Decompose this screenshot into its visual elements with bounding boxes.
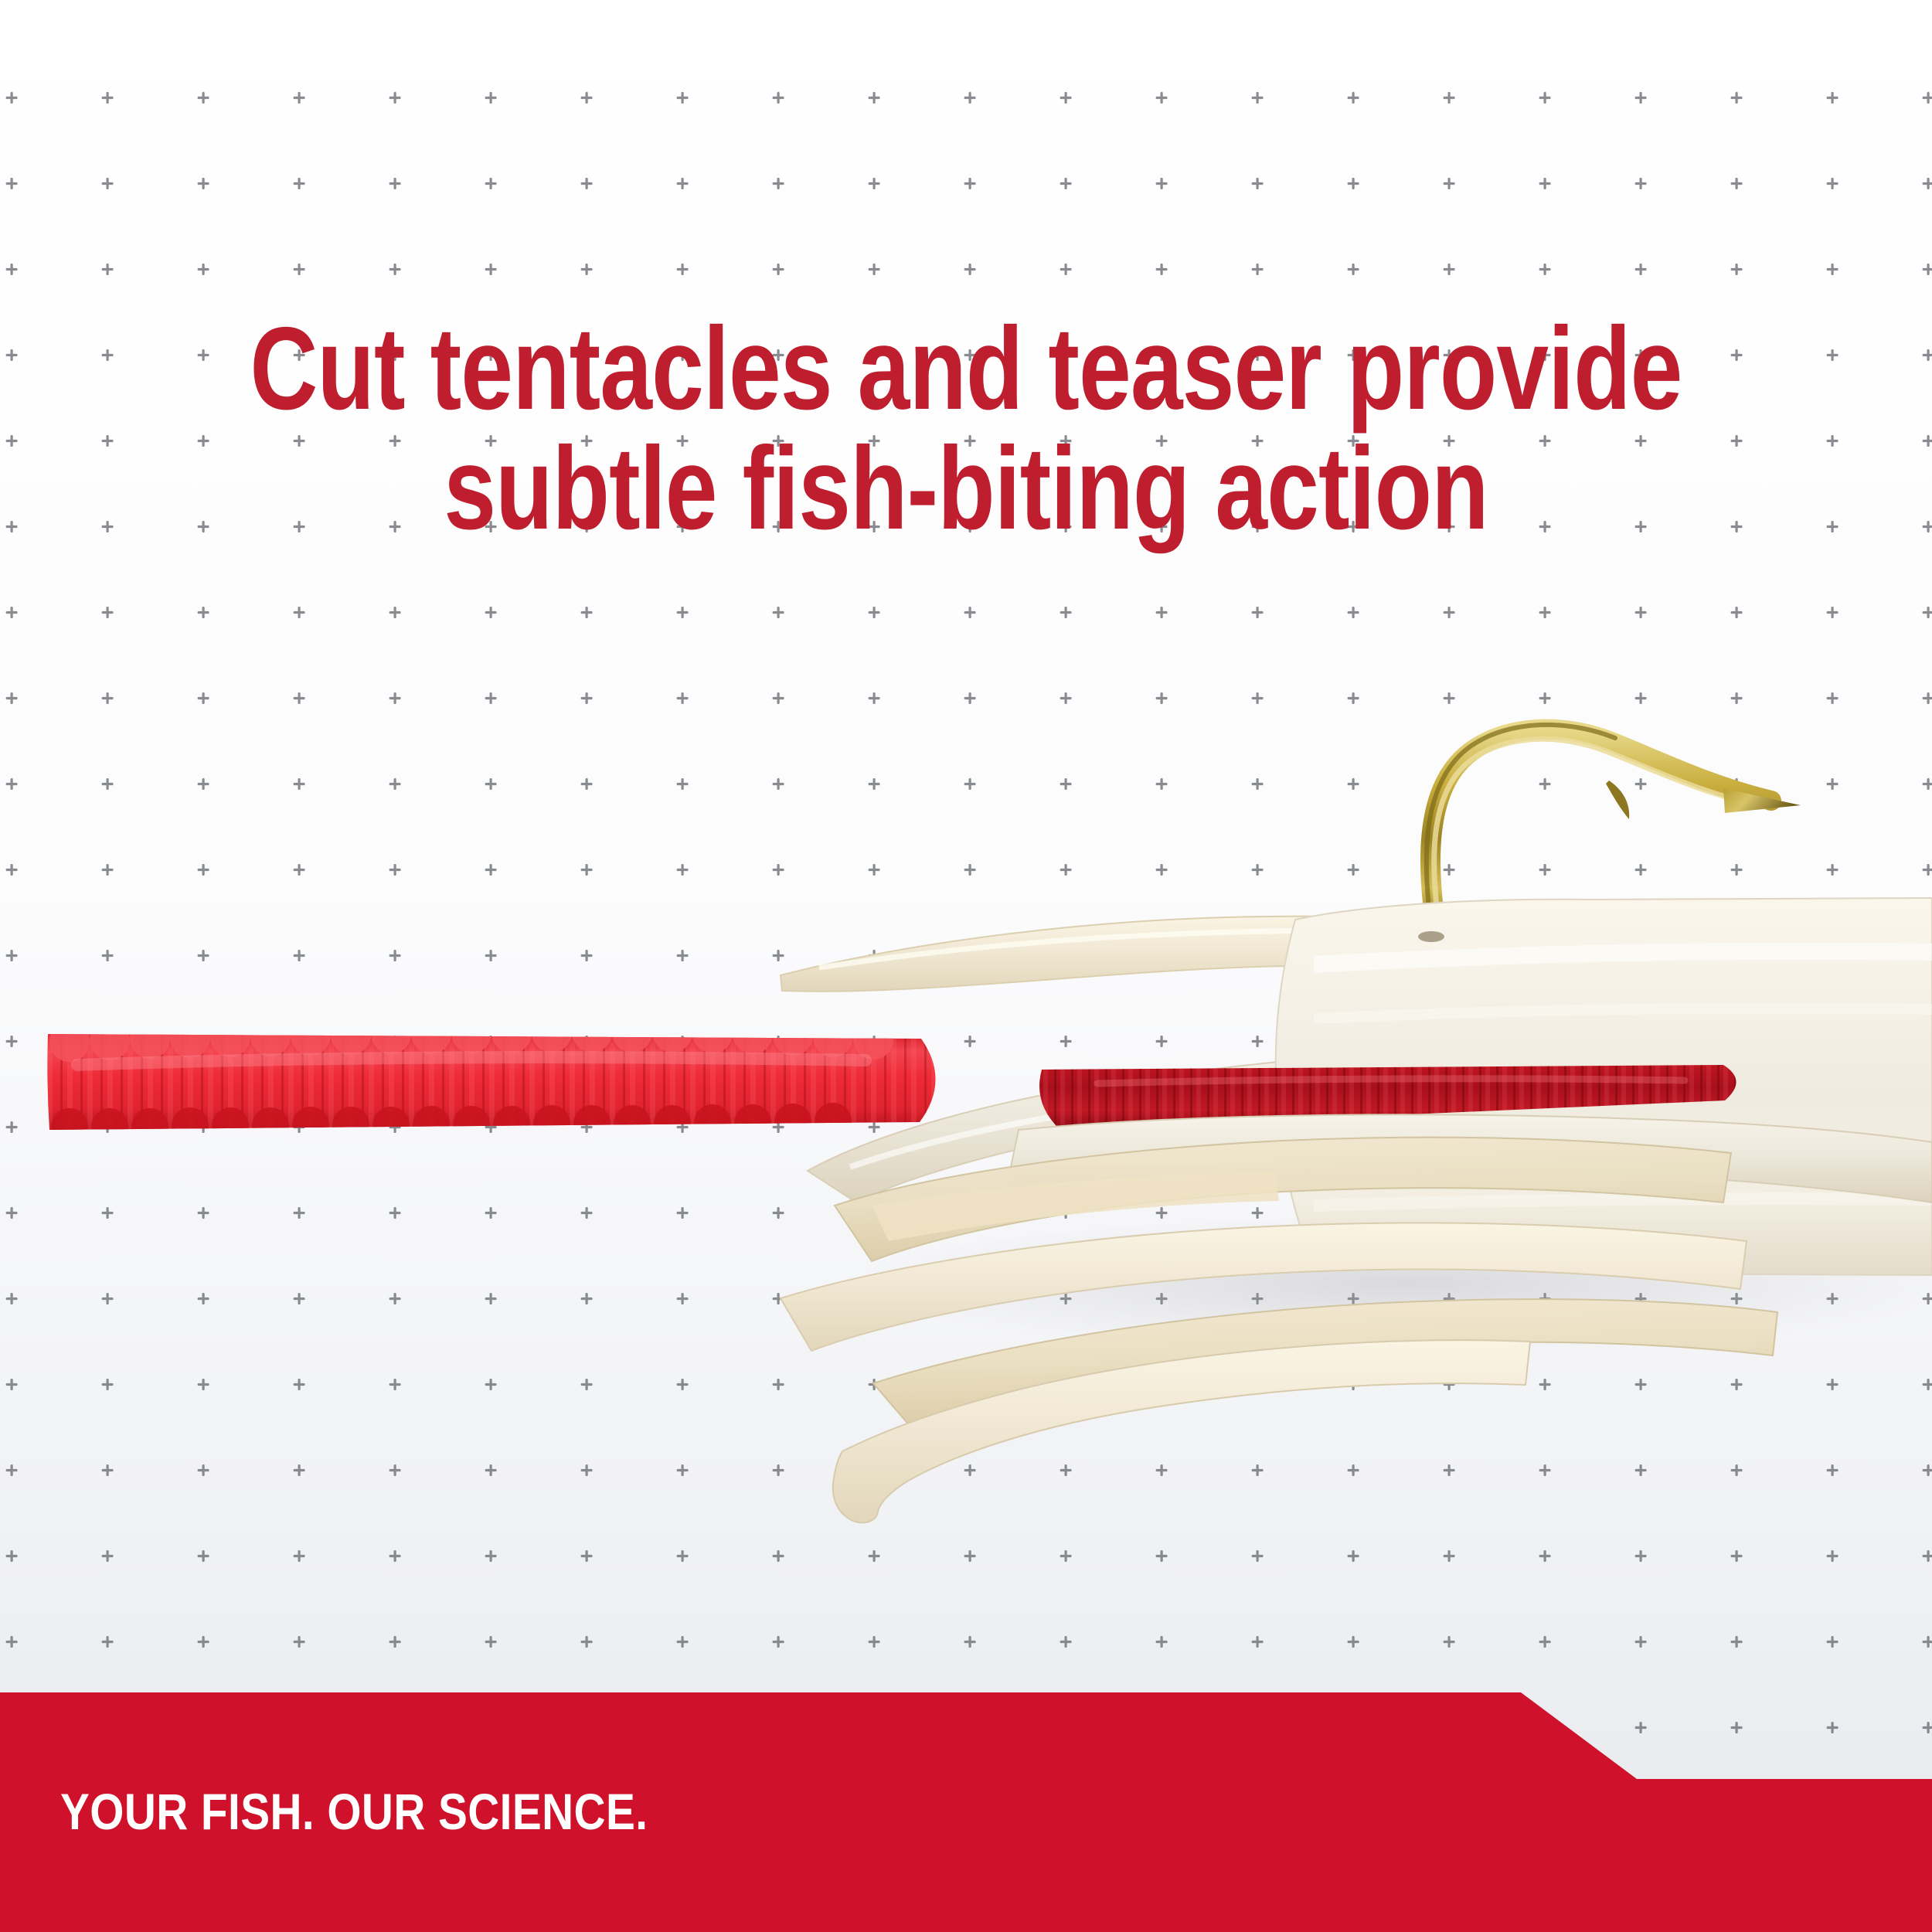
teaser-worm-red (39, 1012, 966, 1145)
product-feature-card: Cut tentacles and teaser provide subtle … (0, 0, 1932, 1932)
headline-text: Cut tentacles and teaser provide subtle … (193, 309, 1739, 549)
gold-hook-icon (1427, 725, 1801, 927)
footer-tagline: YOUR FISH. OUR SCIENCE. (60, 1782, 648, 1841)
hook-entry-hole (1418, 931, 1444, 942)
product-photo (0, 0, 1932, 1932)
